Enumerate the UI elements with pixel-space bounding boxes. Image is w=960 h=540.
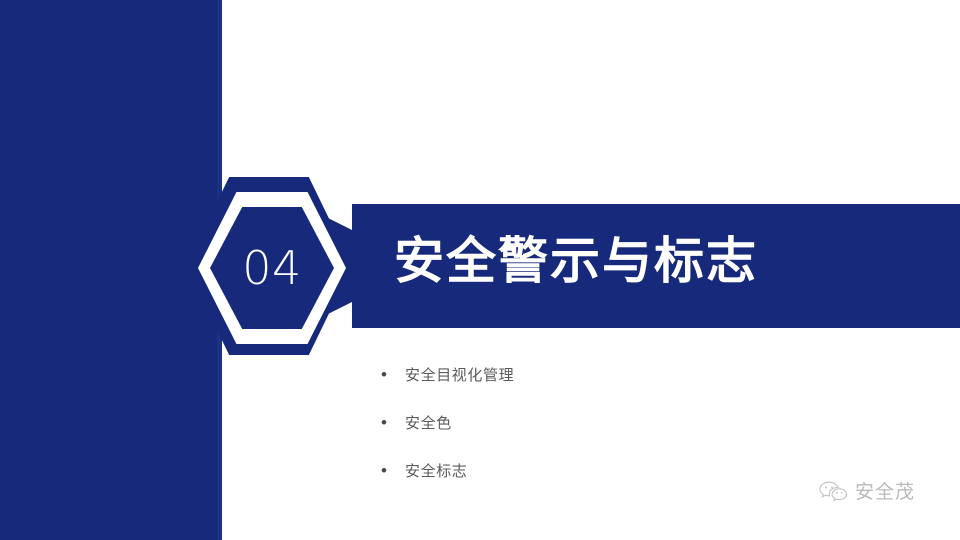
list-item-label: 安全色 — [405, 412, 452, 433]
list-item-label: 安全标志 — [405, 460, 467, 481]
list-item: • 安全色 — [381, 398, 781, 446]
presentation-slide: 04 安全警示与标志 • 安全目视化管理 • 安全色 • 安全标志 — [0, 0, 960, 540]
bullet-dot-icon: • — [381, 414, 405, 431]
bullet-dot-icon: • — [381, 462, 405, 479]
left-blue-panel — [0, 0, 217, 540]
section-number: 04 — [210, 207, 334, 329]
wechat-icon — [818, 480, 848, 502]
watermark-label: 安全茂 — [855, 477, 915, 504]
list-item: • 安全标志 — [381, 446, 781, 494]
list-item: • 安全目视化管理 — [381, 350, 781, 398]
list-item-label: 安全目视化管理 — [405, 364, 514, 385]
bullet-dot-icon: • — [381, 366, 405, 383]
page-title: 安全警示与标志 — [394, 233, 758, 291]
agenda-list: • 安全目视化管理 • 安全色 • 安全标志 — [381, 350, 781, 494]
watermark: 安全茂 — [818, 477, 915, 504]
